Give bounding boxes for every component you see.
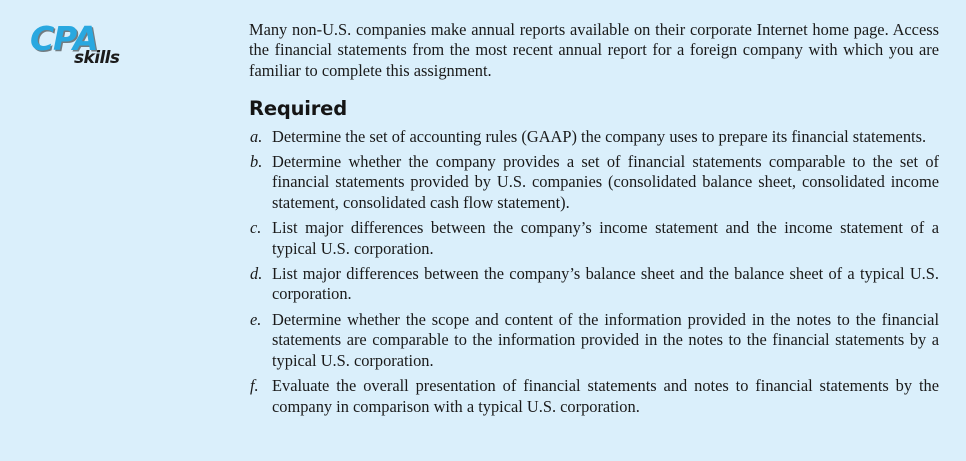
list-item-text: List major differences between the compa… bbox=[272, 218, 939, 259]
list-item-text: Determine the set of accounting rules (G… bbox=[272, 127, 939, 147]
list-item-marker: a. bbox=[250, 127, 262, 147]
list-item-marker: f. bbox=[250, 376, 259, 396]
list-item-text: Determine whether the scope and content … bbox=[272, 310, 939, 371]
list-item: f. Evaluate the overall presentation of … bbox=[249, 376, 939, 417]
list-item-marker: c. bbox=[250, 218, 261, 238]
list-item: a. Determine the set of accounting rules… bbox=[249, 127, 939, 147]
intro-paragraph: Many non-U.S. companies make annual repo… bbox=[249, 20, 939, 81]
list-item-text: Determine whether the company provides a… bbox=[272, 152, 939, 213]
list-item-marker: e. bbox=[250, 310, 261, 330]
cpa-skills-logo: CPA skills bbox=[22, 22, 212, 82]
list-item: c. List major differences between the co… bbox=[249, 218, 939, 259]
logo-skills-text: skills bbox=[74, 50, 119, 67]
assignment-panel: CPA skills Many non-U.S. companies make … bbox=[0, 0, 966, 461]
content-column: Many non-U.S. companies make annual repo… bbox=[249, 20, 939, 417]
list-item-marker: d. bbox=[250, 264, 262, 284]
list-item: e. Determine whether the scope and conte… bbox=[249, 310, 939, 371]
list-item: d. List major differences between the co… bbox=[249, 264, 939, 305]
list-item-text: List major differences between the compa… bbox=[272, 264, 939, 305]
required-heading: Required bbox=[249, 98, 939, 120]
list-item-text: Evaluate the overall presentation of fin… bbox=[272, 376, 939, 417]
list-item: b. Determine whether the company provide… bbox=[249, 152, 939, 213]
list-item-marker: b. bbox=[250, 152, 262, 172]
required-list: a. Determine the set of accounting rules… bbox=[249, 127, 939, 417]
